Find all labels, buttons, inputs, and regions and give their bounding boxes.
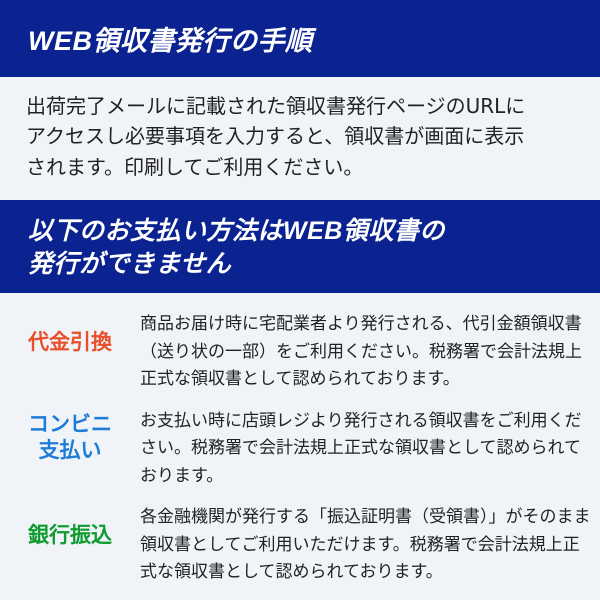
secondary-title-line-2: 発行ができません	[28, 248, 572, 281]
payment-method-label-bank: 銀行振込	[0, 502, 140, 549]
intro-paragraph: 出荷完了メールに記載された領収書発行ページのURLに アクセスし必要事項を入力す…	[0, 77, 600, 200]
payment-method-label-konbini-line-1: コンビニ	[0, 411, 140, 438]
page-title-band: WEB領収書発行の手順	[0, 0, 600, 77]
payment-method-desc-bank: 各金融機関が発行する「振込証明書（受領書）」がそのまま 領収書としてご利用いただ…	[140, 502, 591, 587]
payment-method-desc-cod-line-1: 商品お届け時に宅配業者より発行される、代引金額領収書	[140, 311, 590, 339]
payment-method-desc-konbini: お支払い時に店頭レジより発行される領収書をご利用くだ さい。税務署で会計法規上正…	[140, 406, 590, 491]
payment-method-desc-konbini-line-1: お支払い時に店頭レジより発行される領収書をご利用くだ	[140, 408, 590, 436]
page-title: WEB領収書発行の手順	[28, 19, 313, 58]
payment-methods-list: 代金引換 商品お届け時に宅配業者より発行される、代引金額領収書 （送り状の一部）…	[0, 293, 600, 599]
payment-method-row-bank: 銀行振込 各金融機関が発行する「振込証明書（受領書）」がそのまま 領収書としてご…	[0, 502, 600, 599]
payment-method-desc-konbini-line-3: おります。	[140, 463, 590, 491]
payment-method-label-cod: 代金引換	[0, 309, 140, 356]
payment-method-label-konbini-line-2: 支払い	[0, 437, 140, 464]
payment-method-row-konbini: コンビニ 支払い お支払い時に店頭レジより発行される領収書をご利用くだ さい。税…	[0, 406, 600, 503]
intro-line-3: されます。印刷してご利用ください。	[26, 152, 574, 182]
payment-method-label-konbini: コンビニ 支払い	[0, 406, 140, 465]
payment-method-desc-cod-line-2: （送り状の一部）をご利用ください。税務署で会計法規上	[140, 339, 590, 367]
receipt-instructions-page: WEB領収書発行の手順 出荷完了メールに記載された領収書発行ページのURLに ア…	[0, 0, 600, 600]
intro-line-2: アクセスし必要事項を入力すると、領収書が画面に表示	[26, 121, 574, 151]
payment-method-desc-bank-line-2: 領収書としてご利用いただけます。税務署で会計法規上正	[140, 532, 591, 560]
payment-method-desc-konbini-line-2: さい。税務署で会計法規上正式な領収書として認められて	[140, 435, 590, 463]
payment-method-desc-bank-line-1: 各金融機関が発行する「振込証明書（受領書）」がそのまま	[140, 504, 591, 532]
secondary-title-line-1: 以下のお支払い方法はWEB領収書の	[28, 215, 572, 248]
payment-method-desc-bank-line-3: 式な領収書として認められております。	[140, 559, 591, 587]
secondary-title-band: 以下のお支払い方法はWEB領収書の 発行ができません	[0, 200, 600, 293]
payment-method-desc-cod: 商品お届け時に宅配業者より発行される、代引金額領収書 （送り状の一部）をご利用く…	[140, 309, 590, 394]
payment-method-row-cod: 代金引換 商品お届け時に宅配業者より発行される、代引金額領収書 （送り状の一部）…	[0, 309, 600, 406]
intro-line-1: 出荷完了メールに記載された領収書発行ページのURLに	[26, 91, 574, 121]
payment-method-label-bank-line-1: 銀行振込	[0, 522, 140, 549]
payment-method-label-cod-line-1: 代金引換	[0, 329, 140, 356]
payment-method-desc-cod-line-3: 正式な領収書として認められております。	[140, 366, 590, 394]
